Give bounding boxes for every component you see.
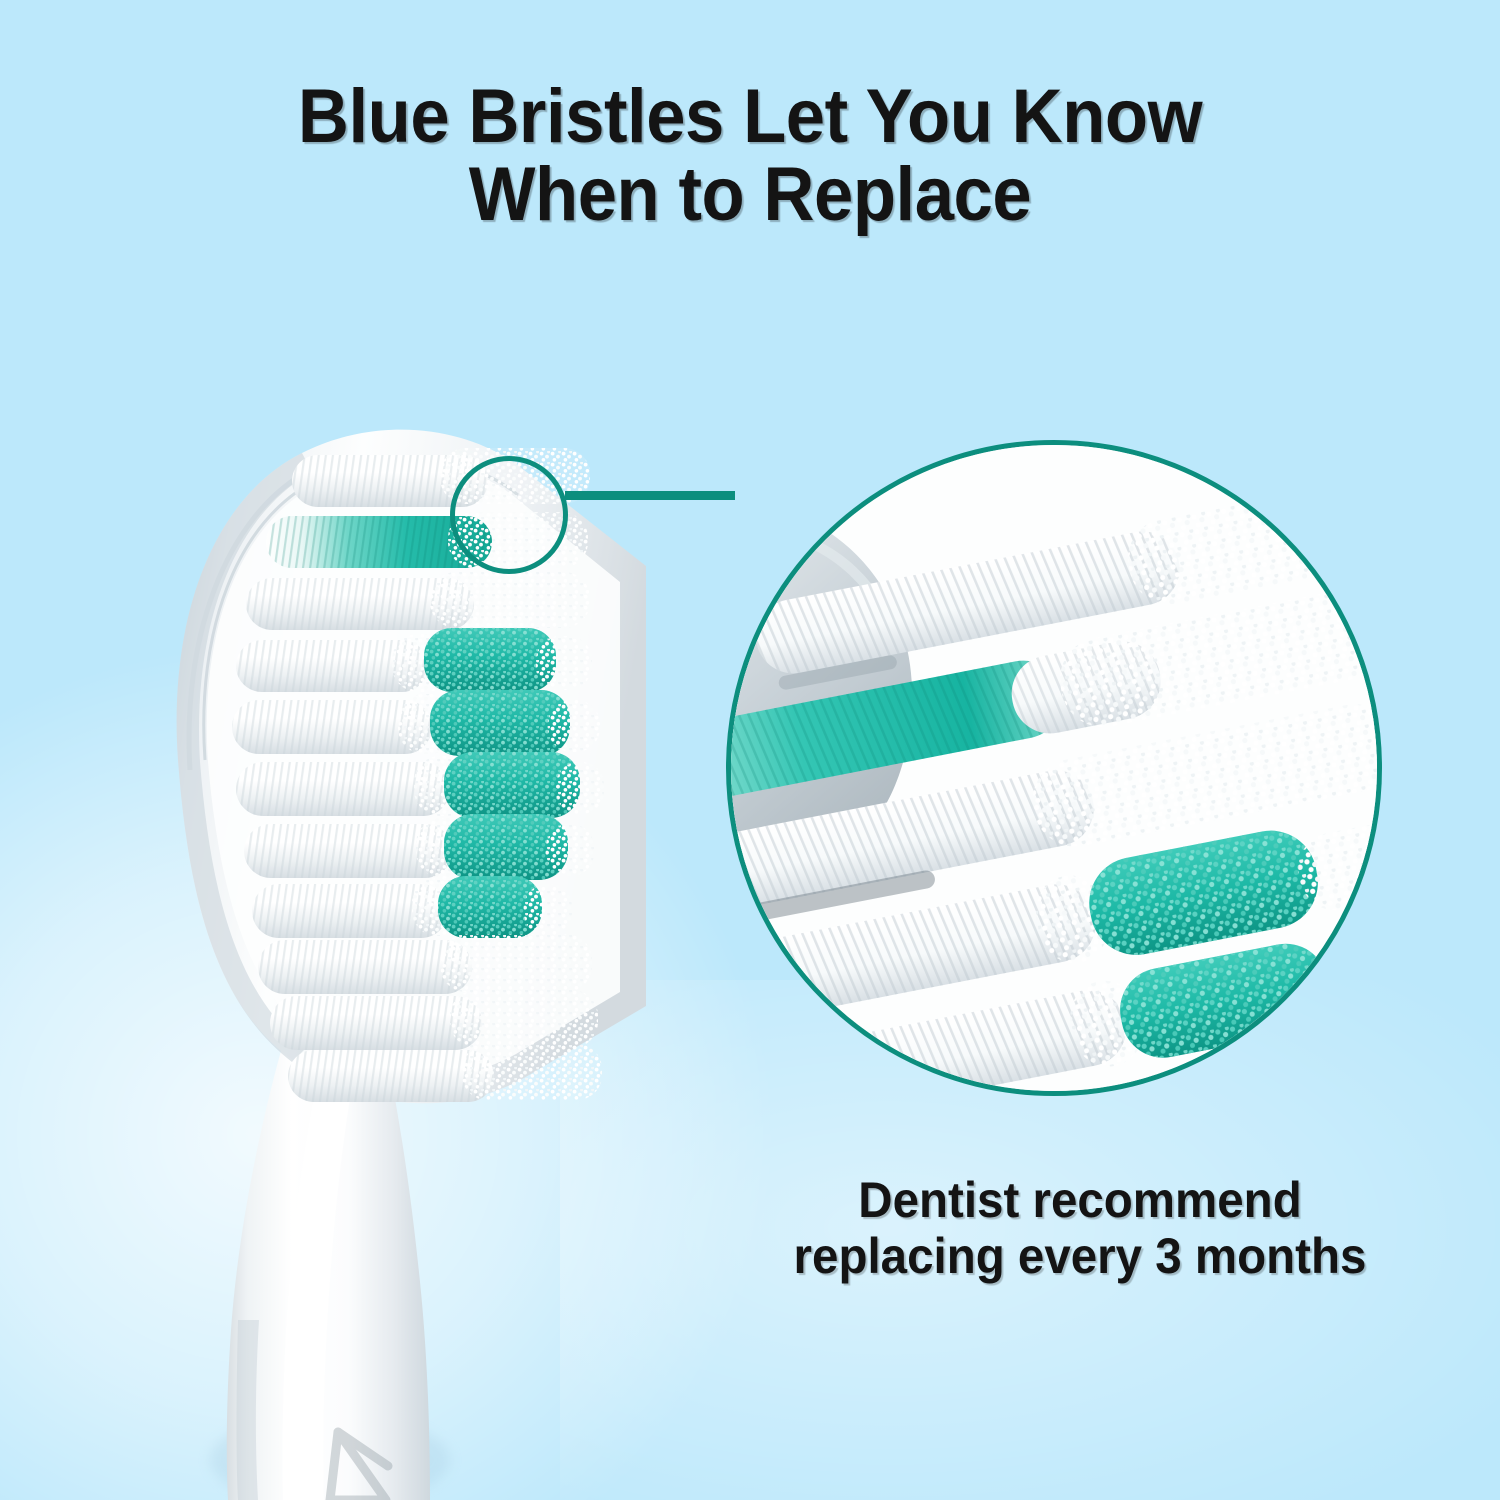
bristle-row-10 [270,990,598,1050]
magnified-bristle-view [726,440,1382,1096]
bristle-row-9 [258,934,592,994]
headline-line-2: When to Replace [53,156,1448,234]
caption-line-2: replacing every 3 months [794,1228,1367,1284]
caption-text: Dentist recommend replacing every 3 mont… [719,1172,1441,1284]
callout-connector-line [565,491,735,500]
product-image-canvas: Blue Bristles Let You Know When to Repla… [0,0,1500,1500]
bristle-row-3 [246,572,590,630]
bristle-row-8 [252,876,572,938]
caption-line-1: Dentist recommend [858,1172,1301,1228]
page-title: Blue Bristles Let You Know When to Repla… [53,78,1448,233]
headline-line-1: Blue Bristles Let You Know [298,74,1202,159]
bristle-zoom-marker [450,456,568,574]
bristle-row-11 [288,1044,602,1102]
